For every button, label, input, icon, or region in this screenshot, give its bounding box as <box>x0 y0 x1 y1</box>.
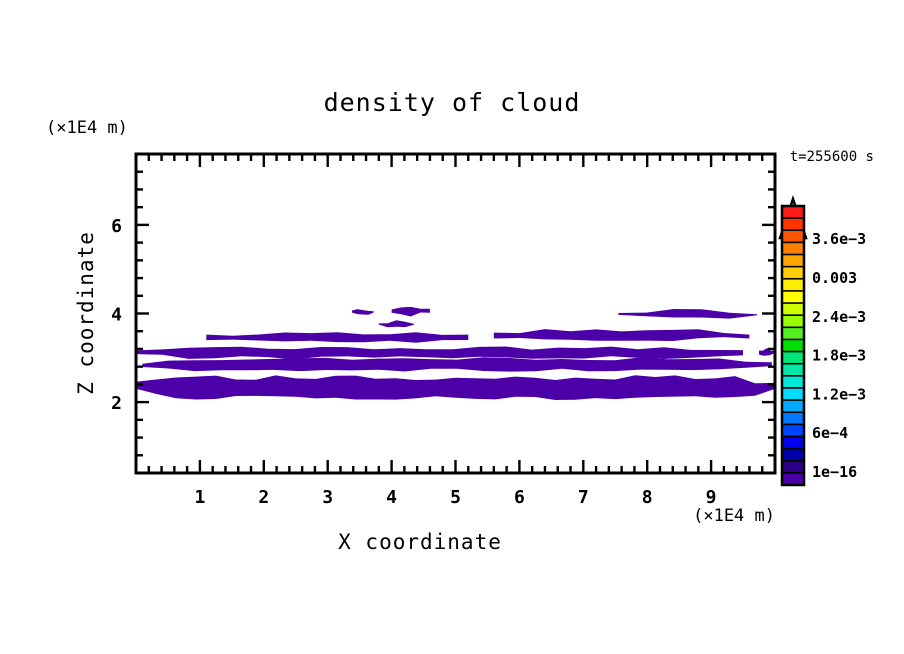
colorbar-band <box>782 461 804 474</box>
colorbar-band <box>782 364 804 377</box>
colorbar-label: 0.003 <box>812 269 857 287</box>
y-tick-label: 2 <box>111 393 122 414</box>
x-tick-label: 3 <box>322 487 333 508</box>
colorbar-band <box>782 218 804 231</box>
y-tick-label: 6 <box>111 216 122 237</box>
x-tick-label: 1 <box>194 487 205 508</box>
colorbar-band <box>782 315 804 328</box>
colorbar-band <box>782 352 804 365</box>
colorbar-band <box>782 242 804 255</box>
x-tick-label: 6 <box>514 487 525 508</box>
colorbar-band <box>782 327 804 340</box>
colorbar-label: 1.2e−3 <box>812 385 866 403</box>
contour-band-basal-slab <box>136 375 775 400</box>
figure-canvas: density of cloud (×1E4 m) t=255600 s 123… <box>0 0 904 654</box>
colorbar-band <box>782 400 804 413</box>
colorbar-band <box>782 412 804 425</box>
x-tick-label: 4 <box>386 487 397 508</box>
colorbar-band <box>782 267 804 280</box>
x-tick-label: 7 <box>578 487 589 508</box>
x-tick-label: 9 <box>706 487 717 508</box>
colorbar-band <box>782 279 804 292</box>
colorbar-band <box>782 424 804 437</box>
time-annotation: t=255600 s <box>790 149 874 165</box>
colorbar[interactable] <box>780 199 806 486</box>
colorbar-band <box>782 230 804 243</box>
colorbar-band <box>782 449 804 462</box>
y-axis-label: Z coordinate <box>74 231 98 395</box>
colorbar-bands <box>782 206 804 486</box>
colorbar-band <box>782 436 804 449</box>
colorbar-label: 2.4e−3 <box>812 308 866 326</box>
page-title: density of cloud <box>324 88 581 117</box>
colorbar-band <box>782 291 804 304</box>
x-tick-label: 2 <box>258 487 269 508</box>
colorbar-label: 3.6e−3 <box>812 230 866 248</box>
x-axis-unit-label: (×1E4 m) <box>693 506 775 526</box>
x-axis-label: X coordinate <box>338 530 502 554</box>
colorbar-band <box>782 388 804 401</box>
contour-plot-svg: density of cloud (×1E4 m) t=255600 s 123… <box>0 0 904 654</box>
colorbar-label: 1e−16 <box>812 463 857 481</box>
colorbar-band <box>782 376 804 389</box>
colorbar-band <box>782 206 804 219</box>
colorbar-label: 1.8e−3 <box>812 347 866 365</box>
y-tick-label: 4 <box>111 305 122 326</box>
colorbar-band <box>782 473 804 486</box>
colorbar-band <box>782 339 804 352</box>
y-axis-unit-label: (×1E4 m) <box>46 118 128 138</box>
x-tick-label: 5 <box>450 487 461 508</box>
x-tick-label: 8 <box>642 487 653 508</box>
colorbar-label: 6e−4 <box>812 424 848 442</box>
colorbar-band <box>782 303 804 316</box>
colorbar-band <box>782 255 804 268</box>
